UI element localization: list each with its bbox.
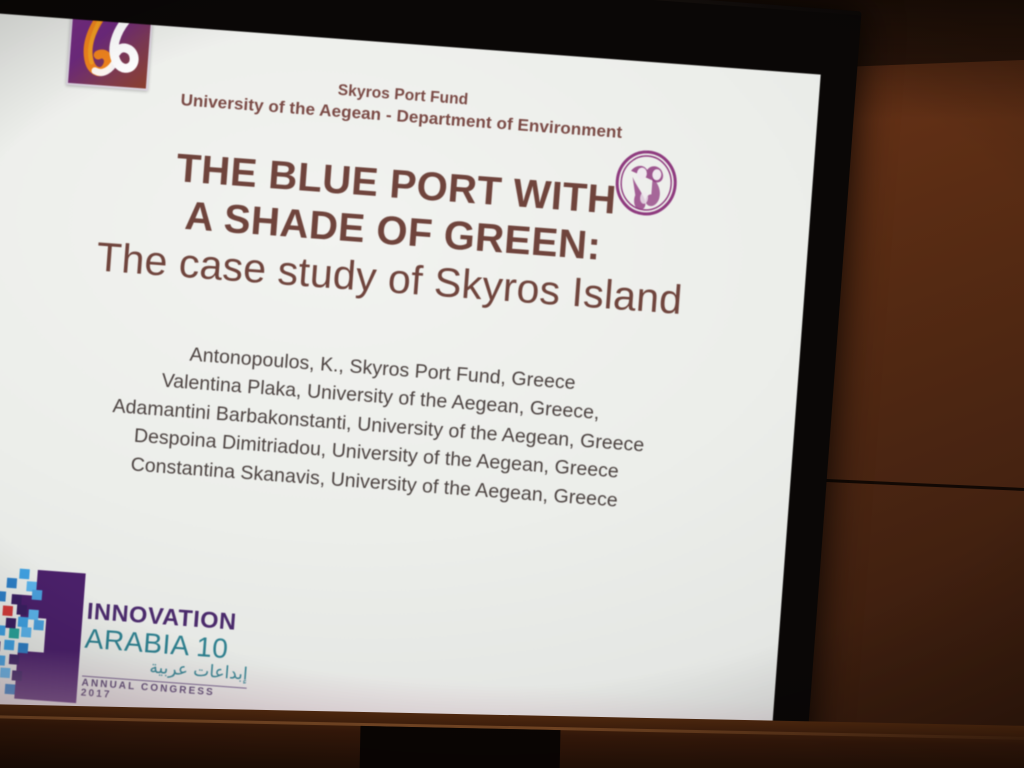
- conference-room-photo: Skyros Port Fund University of the Aegea…: [0, 0, 1024, 768]
- presentation-slide: Skyros Port Fund University of the Aegea…: [0, 13, 821, 768]
- frame-top-highlight: [0, 0, 861, 15]
- projection-screen-frame: Skyros Port Fund University of the Aegea…: [0, 0, 861, 768]
- slide-vignette: [0, 13, 821, 768]
- table-dark-notch: [360, 726, 561, 768]
